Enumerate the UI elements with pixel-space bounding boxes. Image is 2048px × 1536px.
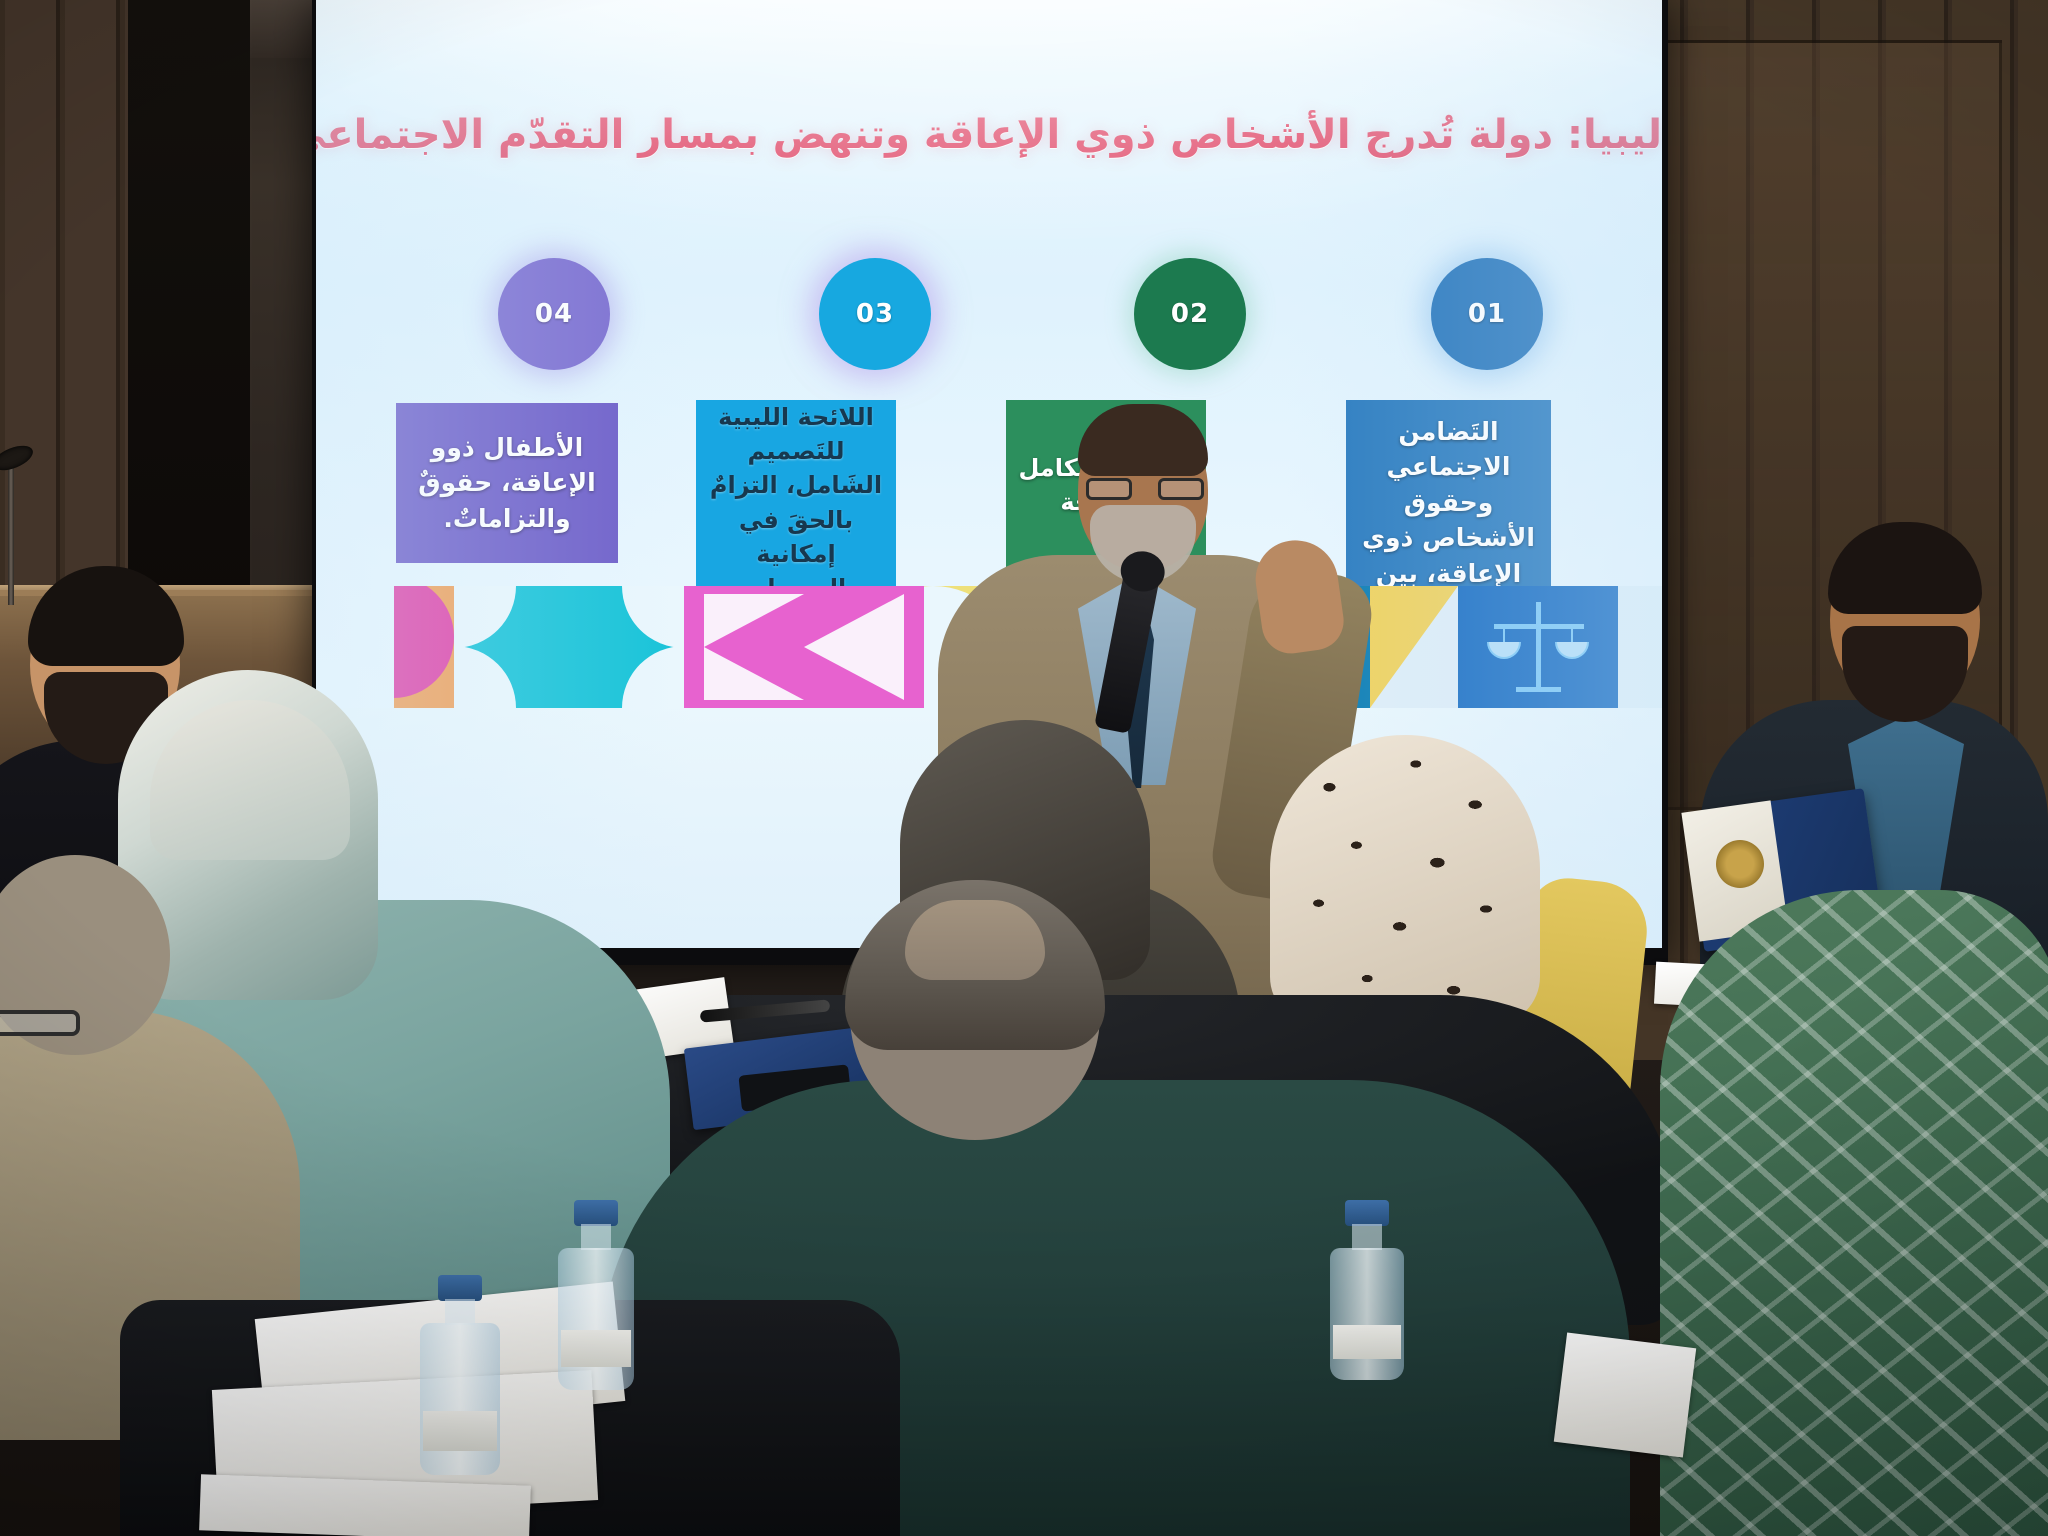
speaker-glasses-icon [1086,478,1204,500]
bottle-body [1330,1248,1404,1380]
water-bottle [1330,1200,1404,1380]
bottle-label [423,1411,497,1451]
folder-emblem-icon [1716,840,1764,888]
bottle-cap [438,1275,482,1301]
attendee-man-right-hair [1828,522,1982,614]
attendee-left-man-hair [28,566,184,666]
glasses-icon [0,1010,80,1036]
bottle-label [561,1330,631,1367]
foreground-scene [0,0,2048,1536]
bottle-cap [1345,1200,1389,1226]
water-bottle [420,1275,500,1475]
water-bottle [558,1200,634,1390]
attendee-woman-leopard-hijab [1270,735,1540,1025]
attendee-woman-green-hijab [1660,890,2048,1536]
attendee-man-front-scalp [905,900,1045,980]
bottle-cap [574,1200,618,1226]
speaker-raised-hand [1251,535,1348,657]
bottle-neck [1352,1224,1382,1250]
paper-document [199,1474,531,1536]
bottle-neck [581,1224,611,1250]
bottle-body [420,1323,500,1475]
screenshot-root: ليبيا: دولة تُدرج الأشخاص ذوي الإعاقة وت… [0,0,2048,1536]
bottle-body [558,1248,634,1390]
bottle-label [1333,1325,1401,1359]
paper-document [1554,1332,1696,1457]
speaker-hair [1078,404,1208,476]
bottle-neck [445,1299,475,1325]
